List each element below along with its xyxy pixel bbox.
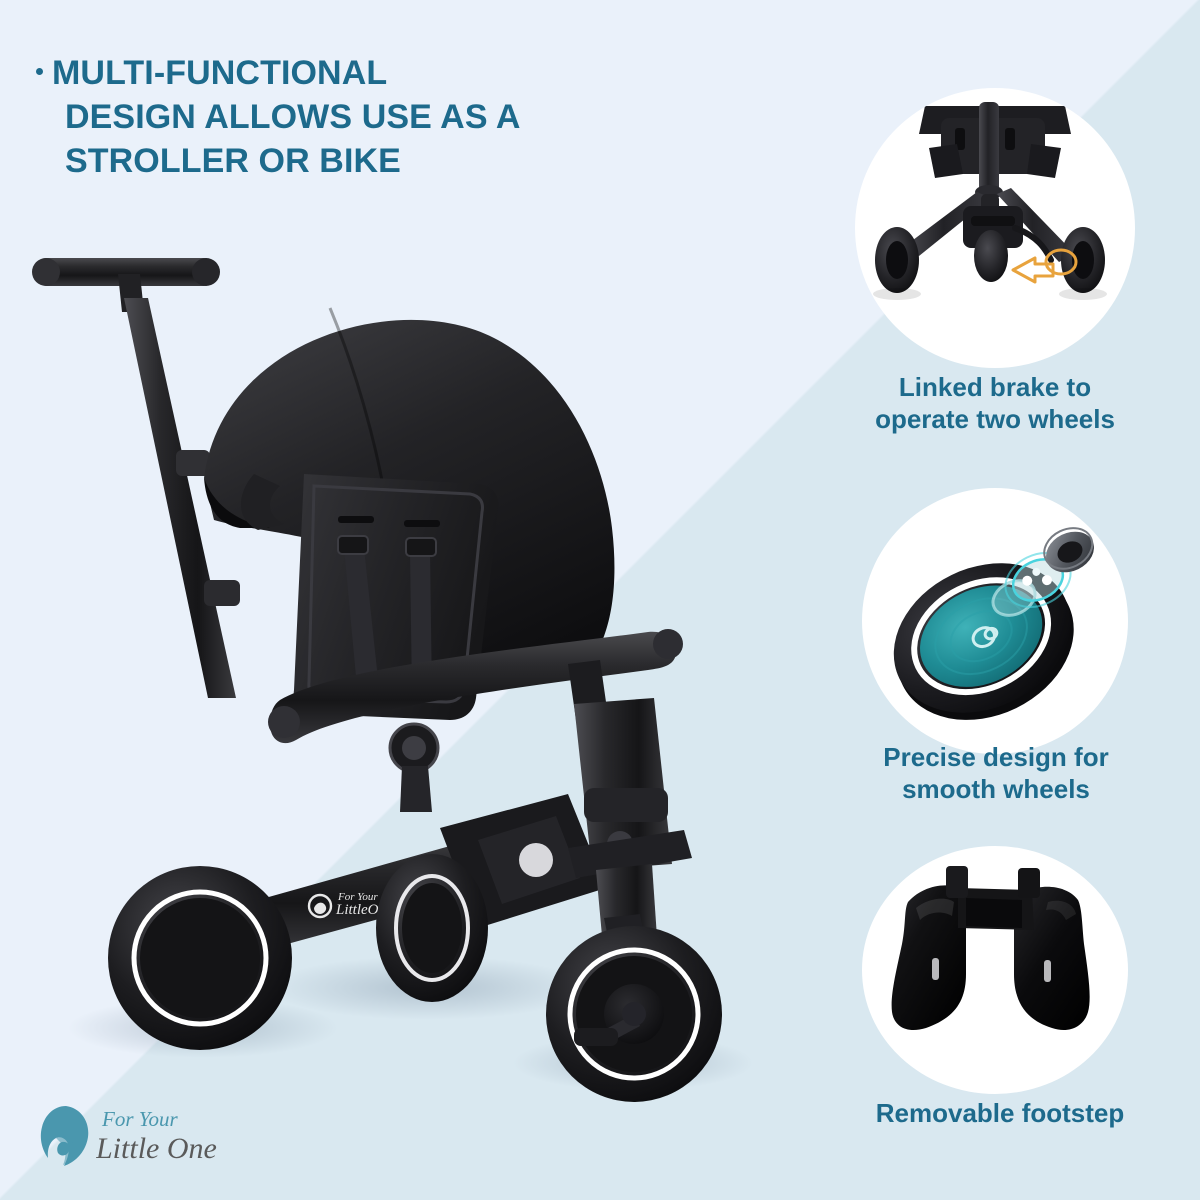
headline-line-2: DESIGN ALLOWS USE AS A [36,96,596,140]
mother-and-child-icon [36,1104,92,1170]
caption-line-2: smooth wheels [838,774,1154,806]
feature-smooth-wheels-caption: Precise design for smooth wheels [838,742,1154,805]
brand-logo: For Your Little One [36,1100,246,1180]
seat [294,474,499,812]
rear-wheel-left [108,866,292,1050]
feature-smooth-wheels-image [862,488,1128,754]
logo-line-2: Little One [96,1132,217,1165]
headline-line-1: MULTI-FUNCTIONAL [52,54,387,92]
caption-line-2: operate two wheels [830,404,1160,436]
marketing-image-canvas: MULTI-FUNCTIONAL DESIGN ALLOWS USE AS A … [0,0,1200,1200]
bullet-dot [36,68,43,75]
headline: MULTI-FUNCTIONAL DESIGN ALLOWS USE AS A … [36,52,596,184]
logo-line-1: For Your [101,1107,179,1131]
brand-logo-text: For Your Little One [96,1100,246,1172]
feature-removable-footstep-image [862,846,1128,1094]
rear-wheel-right [376,854,488,1002]
feature-linked-brake-image [855,88,1135,368]
main-product-image: For Your LittleOne [8,228,788,1128]
caption-line-1: Linked brake to [830,372,1160,404]
feature-removable-footstep-caption: Removable footstep [830,1098,1170,1130]
caption-line-1: Removable footstep [830,1098,1170,1130]
feature-linked-brake-caption: Linked brake to operate two wheels [830,372,1160,435]
headline-line-3: STROLLER OR BIKE [36,140,596,184]
caption-line-1: Precise design for [838,742,1154,774]
